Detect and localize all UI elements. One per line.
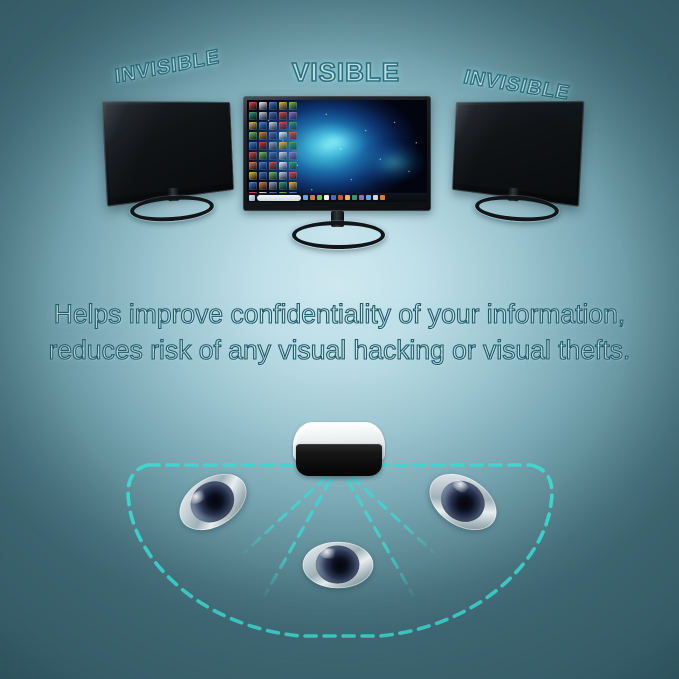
desktop-icon[interactable] [279,142,287,150]
monitor-center-bezel [243,96,431,211]
desktop-icon[interactable] [269,172,277,180]
desktop-icon[interactable] [279,152,287,160]
desktop-icon[interactable] [259,112,267,120]
desktop-icon[interactable] [279,182,287,190]
taskbar-icon[interactable] [345,195,350,200]
label-invisible-left: INVISIBLE [114,46,221,89]
taskbar-icon[interactable] [359,195,364,200]
headline-line-2: reduces risk of any visual hacking or vi… [0,332,679,368]
desktop-icon[interactable] [289,142,297,150]
eye-icon-center [303,542,374,589]
desktop-icon[interactable] [279,172,287,180]
device-screen-face [296,444,382,476]
desktop-icon[interactable] [249,172,257,180]
desktop-icon[interactable] [289,182,297,190]
desktop-icon[interactable] [269,112,277,120]
monitor-left [98,96,248,231]
desktop-icon[interactable] [279,122,287,130]
desktop-icon[interactable] [259,132,267,140]
taskbar-search-input[interactable] [257,195,301,201]
desktop-icon[interactable] [279,162,287,170]
desktop-icon[interactable] [269,132,277,140]
taskbar[interactable] [247,193,427,202]
desktop-icon[interactable] [259,152,267,160]
desktop-icon[interactable] [249,142,257,150]
desktop-icon[interactable] [269,182,277,190]
desktop-icon[interactable] [269,152,277,160]
start-button-icon[interactable] [249,195,255,201]
privacy-filter-device [289,422,389,484]
desktop-icon[interactable] [289,112,297,120]
taskbar-icon[interactable] [303,195,308,200]
monitor-center-stand-base [291,220,386,250]
desktop-icon[interactable] [289,122,297,130]
desktop-icon[interactable] [269,142,277,150]
desktop-icon[interactable] [259,122,267,130]
monitor-center-screen [247,100,427,202]
desktop-icon[interactable] [259,182,267,190]
desktop-icon[interactable] [249,112,257,120]
desktop-icon[interactable] [279,112,287,120]
monitor-right [438,96,588,231]
taskbar-icon[interactable] [331,195,336,200]
desktop-icon[interactable] [289,172,297,180]
desktop-icon[interactable] [289,162,297,170]
desktop-icon[interactable] [249,122,257,130]
taskbar-icon[interactable] [310,195,315,200]
eye-highlight [320,548,338,558]
desktop-icon[interactable] [249,162,257,170]
desktop-icon[interactable] [249,152,257,160]
headline-line-1: Helps improve confidentiality of your in… [0,296,679,332]
label-visible: VISIBLE [292,57,400,88]
taskbar-icon[interactable] [366,195,371,200]
desktop-icon[interactable] [269,102,277,110]
desktop-icon[interactable] [249,182,257,190]
desktop-icon[interactable] [289,132,297,140]
desktop-icon[interactable] [279,132,287,140]
taskbar-icon[interactable] [373,195,378,200]
desktop-icon[interactable] [269,162,277,170]
desktop-icon[interactable] [249,132,257,140]
desktop-icon-grid [249,102,298,201]
desktop-icon[interactable] [289,152,297,160]
taskbar-icon[interactable] [338,195,343,200]
desktop-icon[interactable] [269,122,277,130]
desktop-icon[interactable] [259,172,267,180]
desktop-icon[interactable] [289,102,297,110]
taskbar-icon[interactable] [317,195,322,200]
desktop-icon[interactable] [259,162,267,170]
desktop-icon[interactable] [259,142,267,150]
viewing-angle-diagram [0,392,679,679]
taskbar-icon[interactable] [380,195,385,200]
monitor-center [243,96,431,244]
desktop-icon[interactable] [279,102,287,110]
taskbar-icon[interactable] [352,195,357,200]
desktop-icon[interactable] [249,102,257,110]
desktop-icon[interactable] [259,102,267,110]
taskbar-icon-strip[interactable] [303,195,385,200]
taskbar-icon[interactable] [324,195,329,200]
headline: Helps improve confidentiality of your in… [0,296,679,368]
product-graphic-canvas: INVISIBLE VISIBLE INVISIBLE [0,0,679,679]
